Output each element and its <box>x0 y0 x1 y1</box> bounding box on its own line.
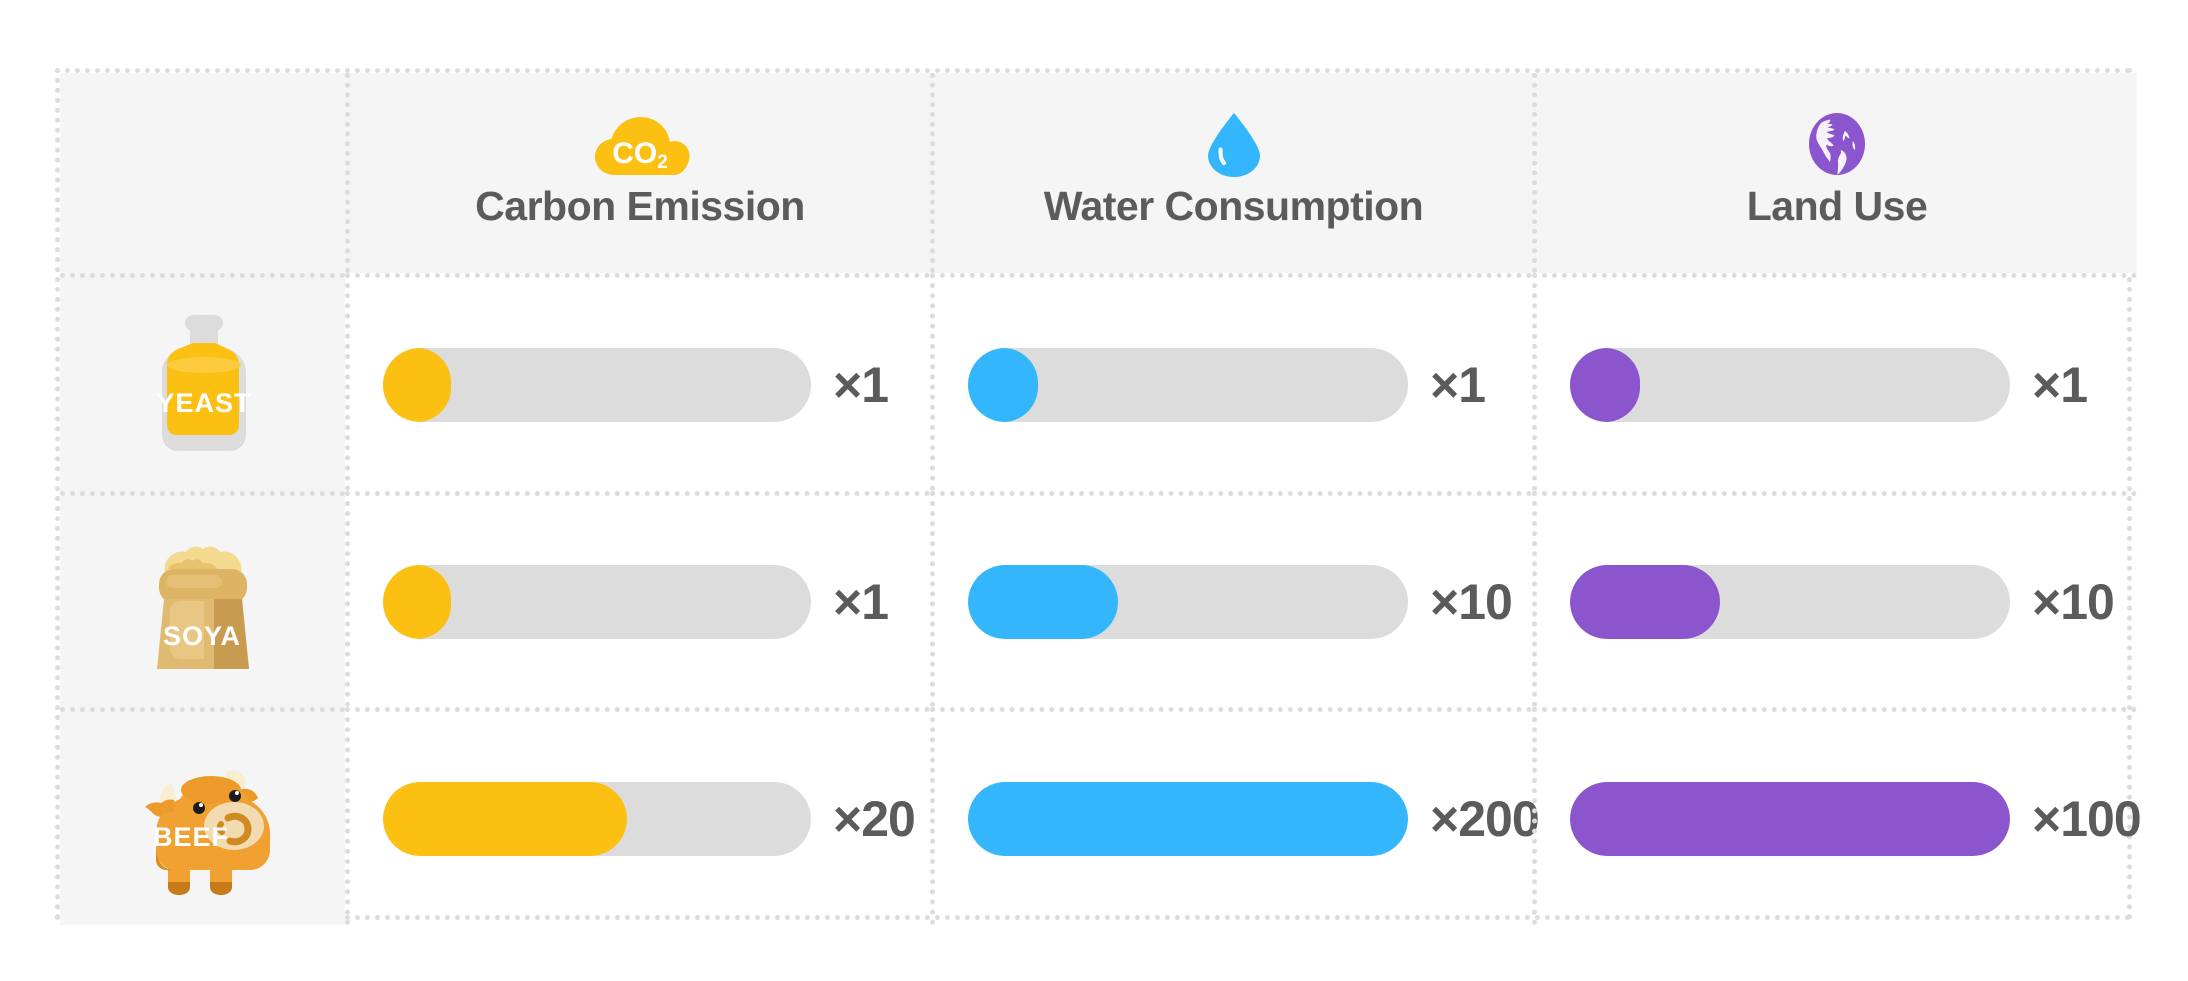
soya-bag-icon: SOYA <box>118 517 288 687</box>
bar-value-yeast-carbon: ×1 <box>833 356 888 414</box>
bar-value-beef-land: ×100 <box>2032 790 2141 848</box>
bar-fill-land <box>1570 565 1720 639</box>
bar-track <box>968 565 1408 639</box>
bar-cell-soya-water: ×10 <box>930 491 1532 707</box>
svg-text:YEAST: YEAST <box>156 388 251 418</box>
bar-track <box>383 782 811 856</box>
bar-cell-beef-land: ×100 <box>1532 707 2137 925</box>
bar-track <box>383 348 811 422</box>
bar-track <box>1570 782 2010 856</box>
bar-cell-yeast-water: ×1 <box>930 273 1532 491</box>
header-cell-land: Land Use <box>1532 73 2137 273</box>
bar-fill-water <box>968 348 1038 422</box>
product-cell-beef: BEEF <box>60 707 345 925</box>
bar-track <box>968 782 1408 856</box>
bar-track <box>968 348 1408 422</box>
svg-text:SOYA: SOYA <box>162 621 240 651</box>
bar-fill-water <box>968 782 1408 856</box>
bar-track <box>1570 565 2010 639</box>
bar-value-yeast-water: ×1 <box>1430 356 1485 414</box>
header-cell-water: Water Consumption <box>930 73 1532 273</box>
product-cell-soya: SOYA <box>60 491 345 707</box>
bar-value-soya-water: ×10 <box>1430 573 1512 631</box>
bar-cell-beef-carbon: ×20 <box>345 707 930 925</box>
header-label-water: Water Consumption <box>1044 183 1423 230</box>
bar-fill-land <box>1570 782 2010 856</box>
bar-cell-yeast-land: ×1 <box>1532 273 2137 491</box>
bar-value-soya-carbon: ×1 <box>833 573 888 631</box>
infographic-root: CO2 Carbon Emission Water Consumption <box>0 0 2188 981</box>
svg-text:BEEF: BEEF <box>152 822 228 852</box>
bar-value-soya-land: ×10 <box>2032 573 2114 631</box>
bar-fill-carbon <box>383 782 627 856</box>
globe-icon <box>1804 111 1870 177</box>
bar-cell-yeast-carbon: ×1 <box>345 273 930 491</box>
bar-fill-water <box>968 565 1118 639</box>
beef-cow-icon: BEEF <box>118 734 288 904</box>
bar-fill-carbon <box>383 565 451 639</box>
yeast-jar-icon: YEAST <box>118 300 288 470</box>
bar-cell-soya-carbon: ×1 <box>345 491 930 707</box>
header-label-carbon: Carbon Emission <box>475 183 805 230</box>
header-label-land: Land Use <box>1747 183 1928 230</box>
comparison-grid: CO2 Carbon Emission Water Consumption <box>55 68 2132 920</box>
bar-value-yeast-land: ×1 <box>2032 356 2087 414</box>
bar-fill-carbon <box>383 348 451 422</box>
bar-value-beef-water: ×200 <box>1430 790 1539 848</box>
bar-value-beef-carbon: ×20 <box>833 790 915 848</box>
bar-fill-land <box>1570 348 1640 422</box>
header-cell-carbon: CO2 Carbon Emission <box>345 73 930 273</box>
header-corner-cell <box>60 73 345 273</box>
bar-track <box>383 565 811 639</box>
co2-cloud-icon: CO2 <box>581 111 699 177</box>
bar-track <box>1570 348 2010 422</box>
product-cell-yeast: YEAST <box>60 273 345 491</box>
bar-cell-beef-water: ×200 <box>930 707 1532 925</box>
bar-cell-soya-land: ×10 <box>1532 491 2137 707</box>
water-drop-icon <box>1203 111 1265 177</box>
